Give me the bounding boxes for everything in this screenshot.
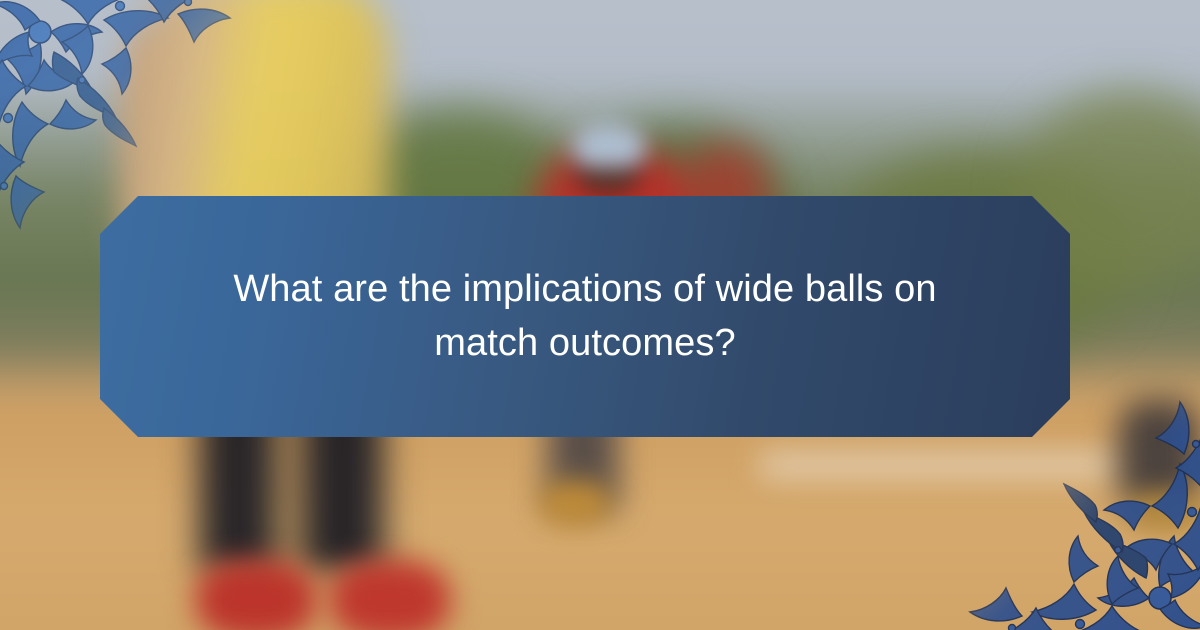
question-title: What are the implications of wide balls … [220,263,950,371]
question-banner: What are the implications of wide balls … [100,196,1070,437]
question-card: What are the implications of wide balls … [0,0,1200,630]
foreground-figure-left-shoe [196,560,316,630]
right-figure-shoe [1128,492,1200,532]
pitch-marking [760,452,1120,478]
center-figure-shoe [540,480,610,526]
foreground-figure-right-shoe [330,560,450,630]
center-figure-blue-cap [572,122,646,168]
